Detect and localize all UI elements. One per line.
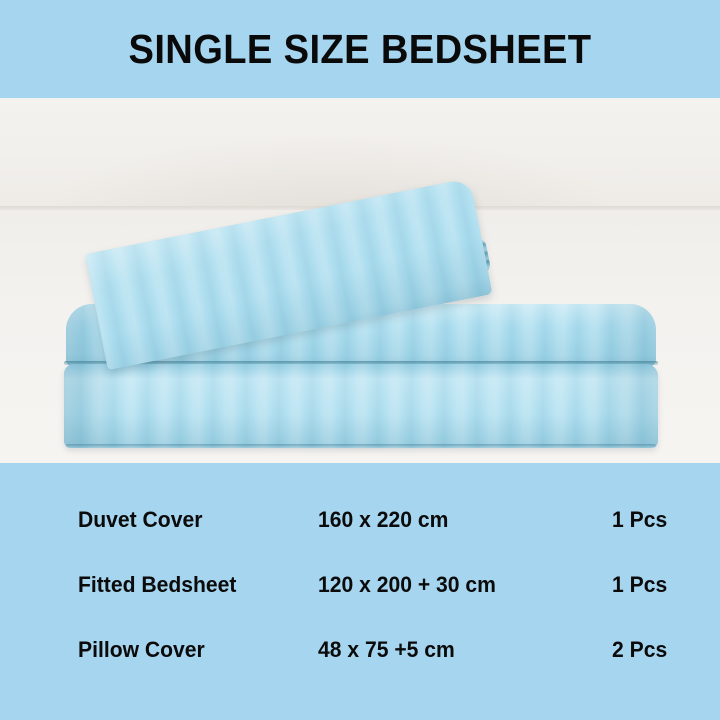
sheet-bottom-hem [66, 444, 656, 448]
page-title: SINGLE SIZE BEDSHEET [25, 0, 695, 98]
spec-item-size: 48 x 75 +5 cm [318, 636, 455, 664]
spec-item-size: 160 x 220 cm [318, 506, 448, 534]
specification-band: Duvet Cover 160 x 220 cm 1 Pcs Fitted Be… [0, 463, 720, 720]
spec-item-name: Fitted Bedsheet [78, 571, 236, 599]
table-row: Fitted Bedsheet 120 x 200 + 30 cm 1 Pcs [0, 571, 720, 636]
table-row: Pillow Cover 48 x 75 +5 cm 2 Pcs [0, 636, 720, 701]
header-band: SINGLE SIZE BEDSHEET [0, 0, 720, 98]
spec-item-size: 120 x 200 + 30 cm [318, 571, 496, 599]
spec-item-quantity: 1 Pcs [612, 506, 667, 534]
spec-item-quantity: 1 Pcs [612, 571, 667, 599]
table-row: Duvet Cover 160 x 220 cm 1 Pcs [0, 506, 720, 571]
specification-table: Duvet Cover 160 x 220 cm 1 Pcs Fitted Be… [0, 463, 720, 658]
spec-item-name: Duvet Cover [78, 506, 202, 534]
product-info-card: SINGLE SIZE BEDSHEET [0, 0, 720, 720]
top-folded-bundle [100, 248, 500, 398]
spec-item-name: Pillow Cover [78, 636, 205, 664]
product-photo [0, 98, 720, 463]
spec-item-quantity: 2 Pcs [612, 636, 667, 664]
wall-shadow [0, 98, 720, 210]
